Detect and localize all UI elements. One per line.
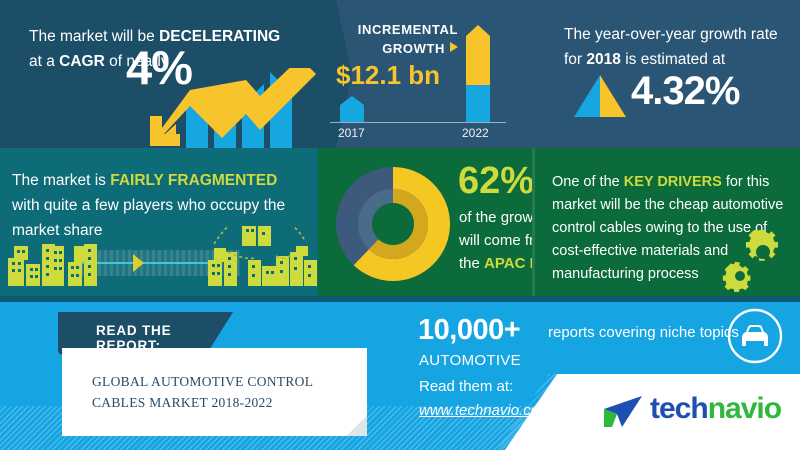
bar-2022-svg <box>466 25 490 122</box>
year-label-end: 2022 <box>462 126 489 140</box>
yoy-text-part2: is estimated at <box>621 51 725 68</box>
city-skyline-illustration <box>0 226 318 290</box>
yoy-text-bold: 2018 <box>586 51 620 68</box>
apac-sub-line3-bold: APAC REGION <box>484 255 532 272</box>
infographic-canvas: The market will be DECELERATING at a CAG… <box>0 0 800 450</box>
technavio-arrow-icon <box>598 394 644 430</box>
cagr-text-bold2: CAGR <box>59 53 105 70</box>
apac-donut-svg <box>335 166 451 282</box>
panel-key-drivers: One of the KEY DRIVERS for this market w… <box>532 148 800 296</box>
fragmented-text-part1: The market is <box>12 172 110 189</box>
car-icon-svg <box>726 307 784 365</box>
bar-2017 <box>340 96 364 122</box>
year-label-start: 2017 <box>338 126 365 140</box>
bar-2022 <box>466 25 490 122</box>
panel-apac: 62% of the growth will come from the APA… <box>318 148 532 296</box>
panel-bottom-cta: READ THE REPORT: GLOBAL AUTOMOTIVE CONTR… <box>0 296 800 450</box>
panel-divider <box>532 148 535 296</box>
cagr-chart-svg <box>150 68 316 148</box>
apac-sub-line3-part1: the <box>459 255 484 272</box>
yoy-text: The year-over-year growth rate for 2018 … <box>564 22 790 72</box>
technavio-wordmark: technavio <box>650 392 781 426</box>
technavio-logo[interactable]: technavio <box>598 390 784 434</box>
read-report-ribbon: READ THE REPORT: <box>58 312 233 352</box>
bar-2017-svg <box>340 96 364 122</box>
apac-sub-line1: of the growth <box>459 209 532 226</box>
growth-triangle-svg <box>574 75 626 117</box>
report-category: AUTOMOTIVE <box>419 352 521 369</box>
apac-percent: 62% <box>458 162 532 200</box>
play-triangle-icon <box>450 42 458 52</box>
panel-incremental-growth: INCREMENTAL GROWTH $12.1 bn 2017 2022 <box>316 0 534 148</box>
report-count: 10,000+ <box>418 316 520 345</box>
gears-svg <box>720 230 794 292</box>
yoy-value: 4.32% <box>631 71 739 111</box>
incremental-label-line1: INCREMENTAL <box>358 22 458 37</box>
report-card[interactable]: GLOBAL AUTOMOTIVE CONTROL CABLES MARKET … <box>62 348 367 436</box>
bottom-top-strip <box>0 296 800 302</box>
fragmented-text-bold: FAIRLY FRAGMENTED <box>110 172 277 189</box>
cagr-text-part2: at a <box>29 53 59 70</box>
incremental-amount: $12.1 bn <box>336 62 440 88</box>
logo-text-tech: tech <box>650 392 708 425</box>
drivers-text-bold: KEY DRIVERS <box>624 174 722 190</box>
panel-yoy-growth: The year-over-year growth rate for 2018 … <box>534 0 800 148</box>
report-title: GLOBAL AUTOMOTIVE CONTROL CABLES MARKET … <box>92 371 352 413</box>
car-icon <box>726 307 784 365</box>
report-count-sub: reports covering niche topics <box>548 324 739 341</box>
panel-cagr: The market will be DECELERATING at a CAG… <box>0 0 316 148</box>
cagr-chart <box>150 68 316 148</box>
read-them-at-label: Read them at: <box>419 378 513 395</box>
axis-line <box>330 122 506 123</box>
incremental-label-line2: GROWTH <box>382 41 445 56</box>
apac-subtext: of the growth will come from the APAC RE… <box>459 206 532 275</box>
drivers-text-part1: One of the <box>552 174 624 190</box>
logo-text-navio: navio <box>708 392 781 425</box>
apac-sub-line2: will come from <box>459 232 532 249</box>
apac-donut-chart <box>335 166 451 282</box>
growth-triangle-icon <box>574 75 626 117</box>
panel-notch-left-2 <box>534 0 563 148</box>
panel-fragmented: The market is FAIRLY FRAGMENTED with qui… <box>0 148 318 296</box>
incremental-label: INCREMENTAL GROWTH <box>328 20 458 58</box>
gears-icon <box>720 230 794 292</box>
